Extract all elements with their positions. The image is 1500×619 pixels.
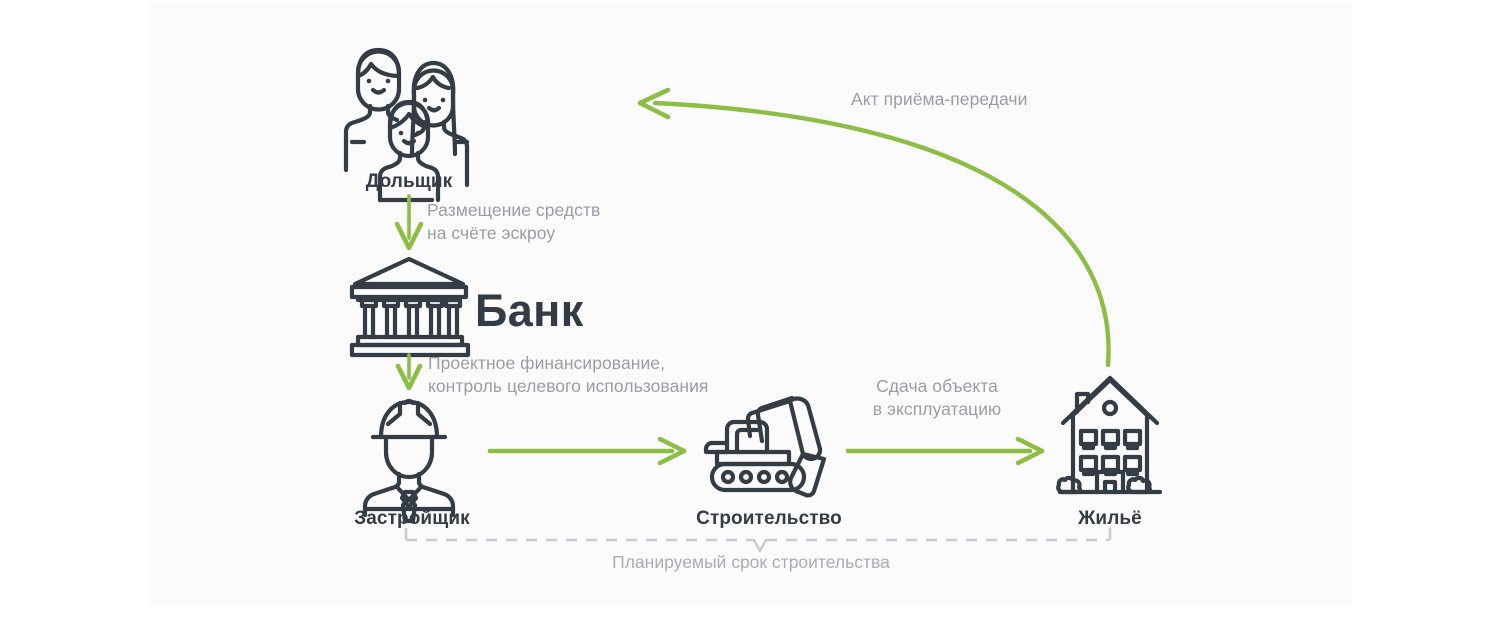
diagram-root: Дольщик Размещение средств на счёте эскр… (0, 0, 1500, 619)
edge-label-bank-to-developer-line1: Проектное финансирование, (428, 353, 665, 374)
arrow-bank-to-developer (398, 355, 420, 388)
arrow-buyer-to-bank (397, 196, 421, 248)
arrow-housing-to-buyer (640, 90, 1109, 365)
edge-label-buyer-to-bank-line1: Размещение средств (427, 200, 600, 221)
builder-hardhat-icon (365, 401, 453, 521)
arrow-developer-to-construction (490, 439, 684, 463)
arrow-construction-to-housing (848, 439, 1042, 463)
apartment-house-icon (1058, 378, 1160, 492)
planned-term-label: Планируемый срок строительства (612, 552, 890, 573)
node-label-buyer: Дольщик (366, 170, 453, 193)
node-label-housing: Жильё (1078, 507, 1142, 530)
planned-term-bracket (406, 528, 1110, 551)
edge-label-housing-to-buyer: Акт приёма-передачи (851, 89, 1027, 110)
edge-label-bank-to-developer-line2: контроль целевого использования (428, 376, 708, 397)
node-label-construction: Строительство (696, 507, 842, 530)
edge-label-buyer-to-bank-line2: на счёте эскроу (427, 223, 555, 244)
bank-building-icon (352, 259, 468, 355)
edge-label-construction-to-housing-line1: Сдача объекта (876, 376, 998, 397)
node-label-bank: Банк (475, 284, 584, 339)
edge-label-construction-to-housing-line2: в эксплуатацию (873, 399, 1001, 420)
excavator-icon (706, 398, 824, 495)
node-label-developer: Застройщик (354, 507, 469, 530)
